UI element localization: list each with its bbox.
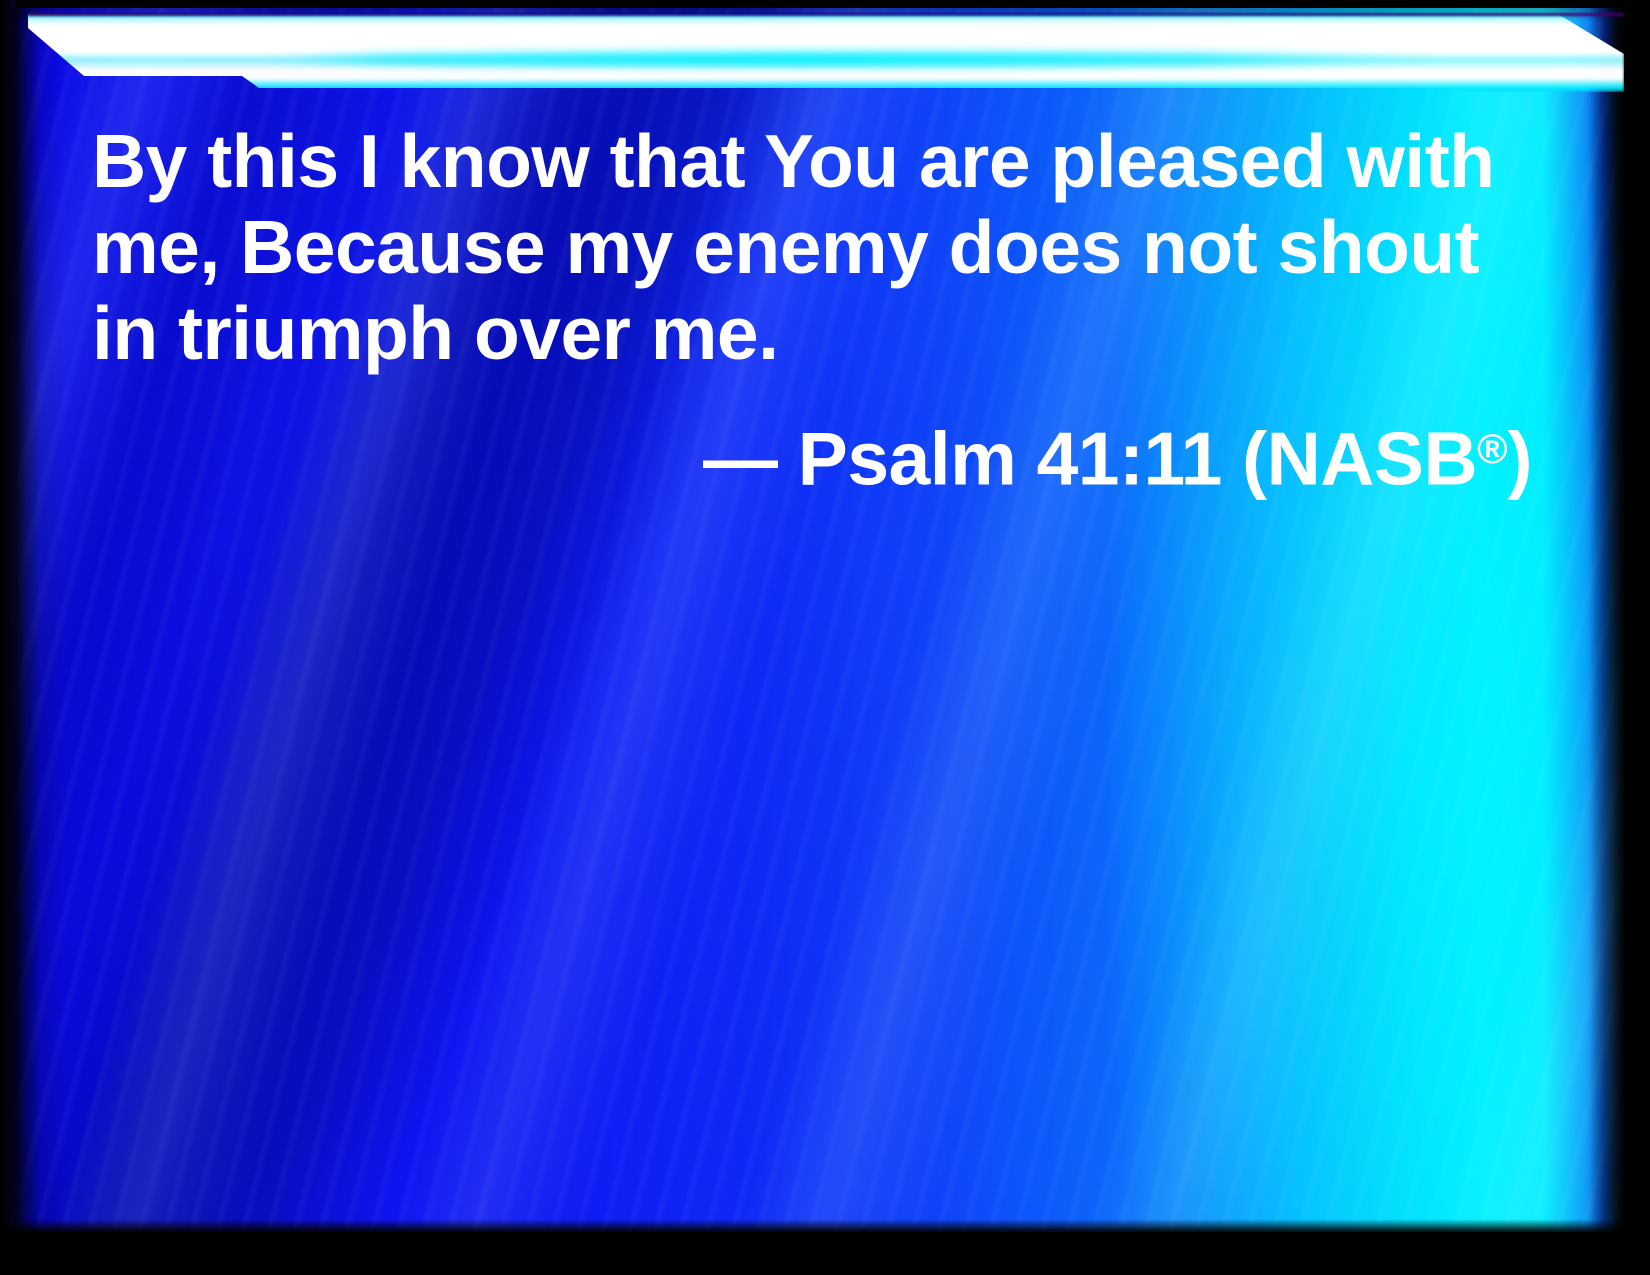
top-black-border: [0, 0, 1650, 7]
left-black-border: [0, 0, 15, 1275]
verse-body-text: By this I know that You are pleased with…: [92, 118, 1544, 376]
background-artwork: By this I know that You are pleased with…: [14, 8, 1624, 1232]
banner-cyan-core: [264, 52, 1454, 66]
verse-text-block: By this I know that You are pleased with…: [92, 118, 1544, 501]
registered-trademark-icon: ®: [1477, 426, 1507, 472]
attribution-suffix: ): [1508, 416, 1532, 500]
bottom-black-border: [0, 1232, 1650, 1275]
right-black-border: [1634, 0, 1650, 1275]
verse-attribution: — Psalm 41:11 (NASB®): [92, 376, 1544, 501]
verse-slide: By this I know that You are pleased with…: [0, 0, 1650, 1275]
banner-top-hairline: [28, 13, 1624, 16]
attribution-prefix: — Psalm 41:11 (NASB: [703, 416, 1477, 500]
